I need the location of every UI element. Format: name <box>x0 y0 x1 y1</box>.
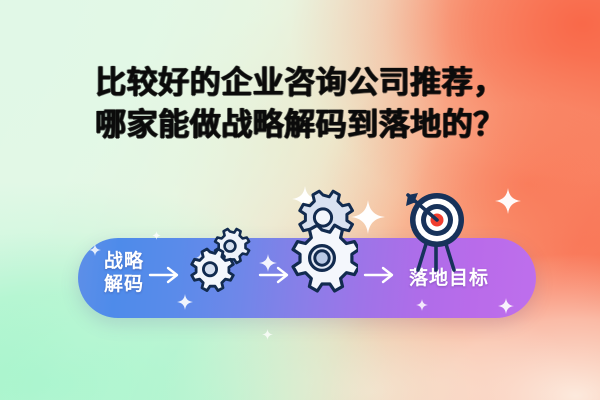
arrow-right-icon-1 <box>148 264 182 286</box>
page-title: 比较好的企业咨询公司推荐， 哪家能做战略解码到落地的？ <box>0 62 600 146</box>
poster-canvas: 比较好的企业咨询公司推荐， 哪家能做战略解码到落地的？ 战略 解码 <box>0 0 600 400</box>
process-start-label-line1: 战略 <box>104 250 144 273</box>
target-bullseye-icon <box>400 182 474 278</box>
gears-small-icon <box>186 227 260 293</box>
process-start-label-line2: 解码 <box>104 273 144 296</box>
sparkle-icon-3 <box>495 188 521 214</box>
arrow-right-icon-3 <box>363 264 397 286</box>
gears-large-icon <box>286 188 358 298</box>
sparkle-icon-11 <box>262 329 273 340</box>
headline-line-2: 哪家能做战略解码到落地的？ <box>0 104 600 146</box>
headline-line-1: 比较好的企业咨询公司推荐， <box>0 62 600 104</box>
process-start-label: 战略 解码 <box>104 250 144 296</box>
